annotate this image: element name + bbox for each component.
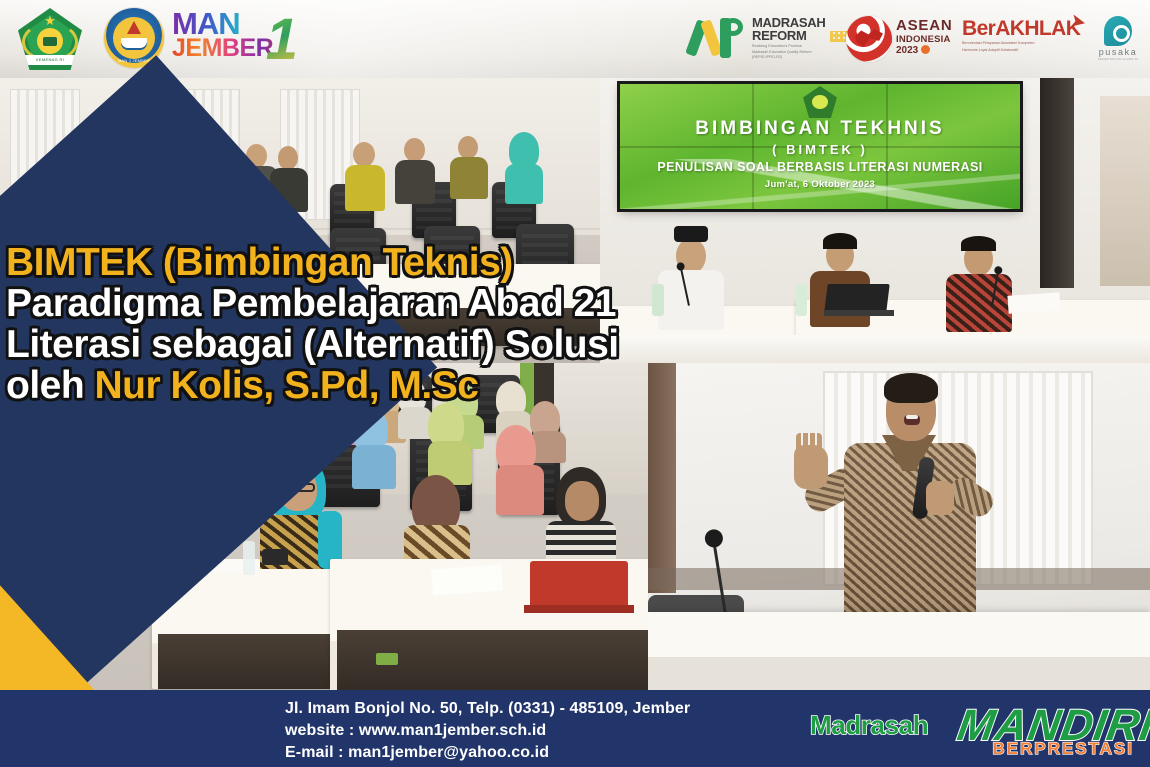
asean-year: 2023 xyxy=(896,45,918,56)
footer-email[interactable]: E-mail : man1jember@yahoo.co.id xyxy=(285,742,690,764)
poster-canvas: ★ KEMENAG RI MAN 1 JEMBER MAN JEMBER 1 xyxy=(0,0,1150,767)
berakhlak-logo: BerAKHLAK➤ Berorientasi Pelayanan Akunta… xyxy=(962,18,1082,53)
asean-text: ASEAN INDONESIA 2023 xyxy=(896,18,958,57)
footer-address: Jl. Imam Bonjol No. 50, Telp. (0331) - 4… xyxy=(285,698,690,720)
screen-topic: PENULISAN SOAL BERBASIS LITERASI NUMERAS… xyxy=(620,160,1020,174)
header-bar: ★ KEMENAG RI MAN 1 JEMBER MAN JEMBER 1 xyxy=(0,0,1150,78)
berakhlak-sub-1: Berorientasi Pelayanan Akuntabel Kompete… xyxy=(962,41,1082,46)
title-line-2: Paradigma Pembelajaran Abad 21 xyxy=(6,284,706,323)
asean-name: ASEAN xyxy=(896,18,958,34)
pusaka-logo: pusaka KEMENTERIAN AGAMA RI xyxy=(1092,16,1144,61)
kemenag-ribbon-label: KEMENAG RI xyxy=(22,55,78,65)
kemenag-logo: ★ KEMENAG RI xyxy=(18,8,82,70)
pusaka-droplet-icon xyxy=(1104,16,1132,46)
title-line-4: oleh Nur Kolis, S.Pd, M.Sc xyxy=(6,366,706,405)
screen-title: BIMBINGAN TEKHNIS xyxy=(620,118,1020,140)
poster-title-block: BIMTEK (Bimbingan Teknis) Paradigma Pemb… xyxy=(6,243,706,405)
title-speaker-name: Nur Kolis, S.Pd, M.Sc xyxy=(95,364,479,407)
berakhlak-sub-2: Harmonis Loyal Adaptif Kolaboratif xyxy=(962,48,1082,53)
screen-kemenag-icon xyxy=(803,86,837,118)
berakhlak-word: BerAKHLAK xyxy=(962,17,1080,40)
madrasah-mandiri-logo: Madrasah MANDIRI BERPRESTASI xyxy=(806,704,1136,756)
red-laptop xyxy=(530,561,628,609)
title-line-1: BIMTEK (Bimbingan Teknis) xyxy=(6,243,706,282)
berakhlak-arrow-icon: ➤ xyxy=(1069,10,1087,33)
madrasah-reform-icon xyxy=(690,14,746,64)
man1jember-wordmark: MAN JEMBER 1 xyxy=(172,10,296,70)
footer-contact-block: Jl. Imam Bonjol No. 50, Telp. (0331) - 4… xyxy=(285,698,690,764)
mandiri-word-1: Madrasah xyxy=(810,710,928,741)
speaker-raised-hand xyxy=(794,445,828,489)
madrasah-reform-text: MADRASAH REFORM Realizing Education's Pr… xyxy=(752,16,844,60)
wordmark-numeral: 1 xyxy=(266,12,298,68)
asean-dot-icon xyxy=(921,45,930,54)
asean-globe-icon xyxy=(846,16,892,62)
footer-bar: Jl. Imam Bonjol No. 50, Telp. (0331) - 4… xyxy=(0,690,1150,767)
presentation-screen: BIMBINGAN TEKHNIS ( BIMTEK ) PENULISAN S… xyxy=(620,84,1020,209)
pusaka-word: pusaka xyxy=(1092,47,1144,57)
photo-main-speaker xyxy=(648,363,1150,690)
reform-sub-3: (REPID IPFID-R2) xyxy=(752,55,844,60)
footer-website[interactable]: website : www.man1jember.sch.id xyxy=(285,720,690,742)
asean-country: INDONESIA xyxy=(896,34,958,45)
screen-date: Jum'at, 6 Oktober 2023 xyxy=(620,179,1020,190)
pusaka-sub: KEMENTERIAN AGAMA RI xyxy=(1092,57,1144,61)
title-by-prefix: oleh xyxy=(6,364,95,407)
mandiri-word-3: BERPRESTASI xyxy=(992,739,1134,759)
reform-sub-2: Madrasah Education Quality Reform xyxy=(752,50,844,55)
screen-subtitle: ( BIMTEK ) xyxy=(620,142,1020,157)
title-line-3: Literasi sebagai (Alternatif) Solusi xyxy=(6,325,706,364)
reform-sub-1: Realizing Education's Promise xyxy=(752,44,844,49)
